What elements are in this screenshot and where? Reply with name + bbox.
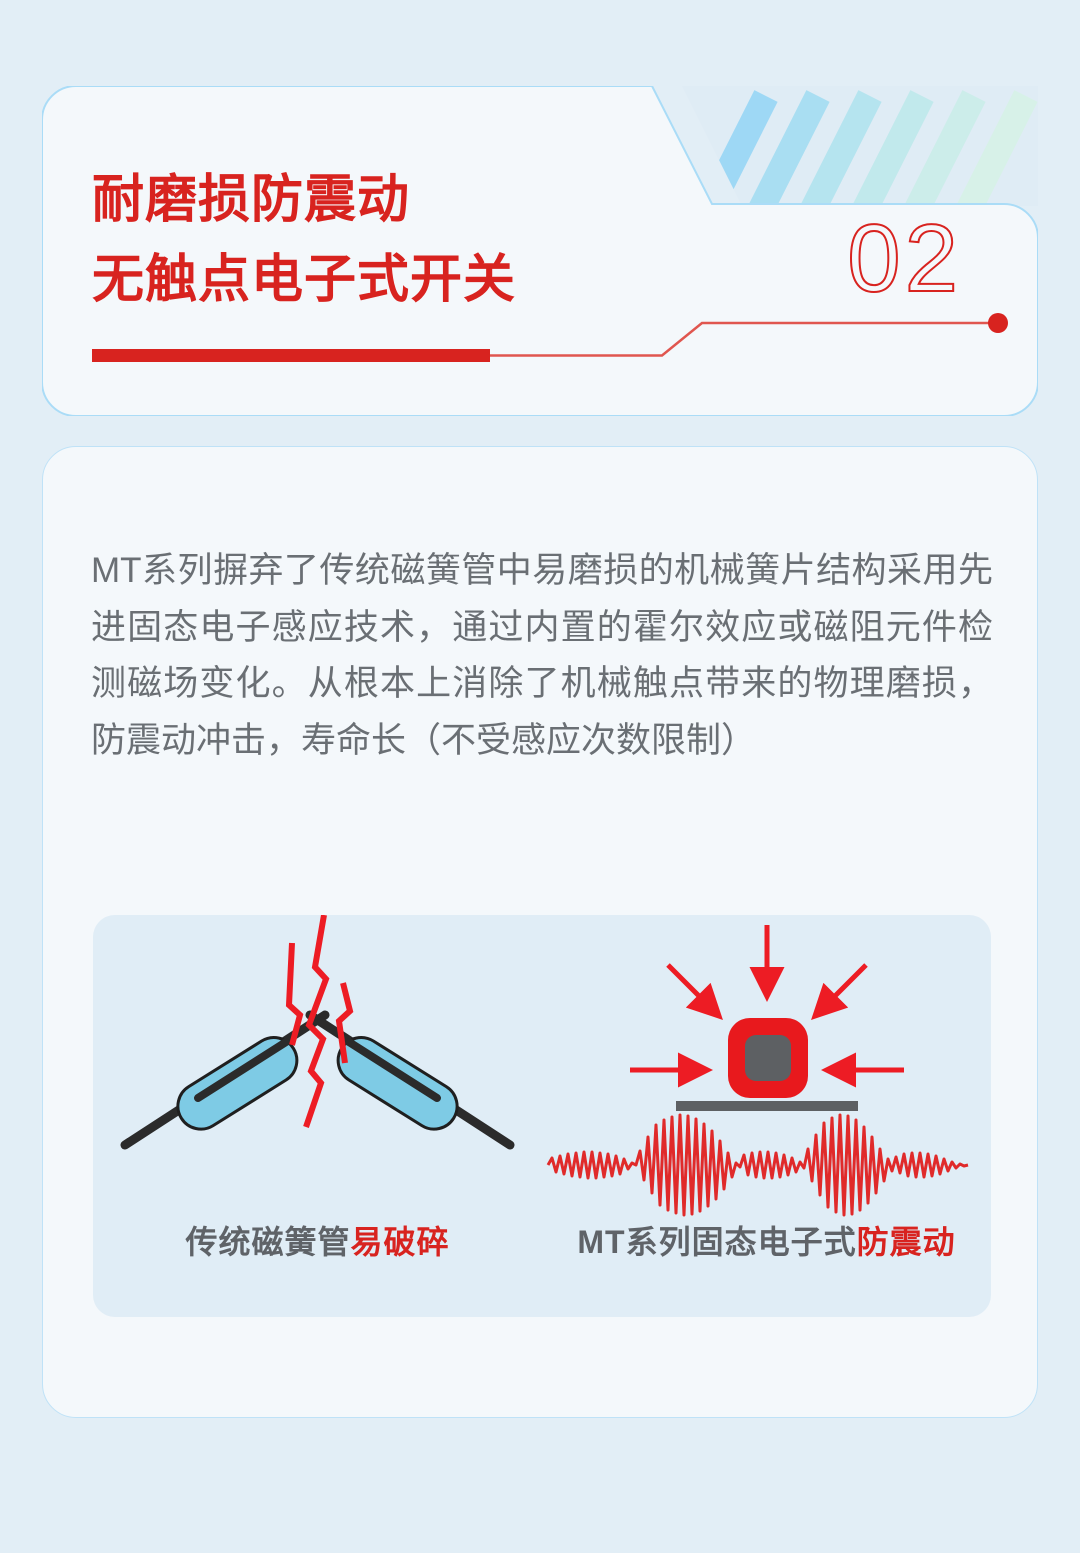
caption-left-highlight: 易破碎 [351, 1224, 450, 1260]
broken-reed-switch-icon [93, 915, 542, 1233]
mounting-base [676, 1101, 858, 1111]
caption-left: 传统磁簧管易破碎 [93, 1217, 542, 1263]
content-card: MT系列摒弃了传统磁簧管中易磨损的机械簧片结构采用先进固态电子感应技术，通过内置… [42, 446, 1038, 1418]
caption-right-highlight: 防震动 [857, 1224, 956, 1260]
page-title-line-2: 无触点电子式开关 [92, 254, 516, 306]
section-number: 02 [847, 211, 962, 307]
solid-state-sensor-vibration-icon [542, 915, 991, 1233]
illustration-right: MT系列固态电子式防震动 [542, 915, 991, 1317]
illustration-left: 传统磁簧管易破碎 [93, 915, 542, 1317]
sensor-core [745, 1035, 791, 1081]
page-title-line-1: 耐磨损防震动 [92, 174, 410, 226]
header-card: 耐磨损防震动 无触点电子式开关 02 [42, 86, 1038, 416]
caption-right-plain: MT系列固态电子式 [577, 1224, 856, 1260]
description-paragraph: MT系列摒弃了传统磁簧管中易磨损的机械簧片结构采用先进固态电子感应技术，通过内置… [91, 543, 993, 770]
caption-right: MT系列固态电子式防震动 [542, 1217, 991, 1263]
vibration-waveform [548, 1115, 968, 1215]
caption-left-plain: 传统磁簧管 [185, 1224, 350, 1260]
illustration-panel: 传统磁簧管易破碎 [93, 915, 991, 1317]
